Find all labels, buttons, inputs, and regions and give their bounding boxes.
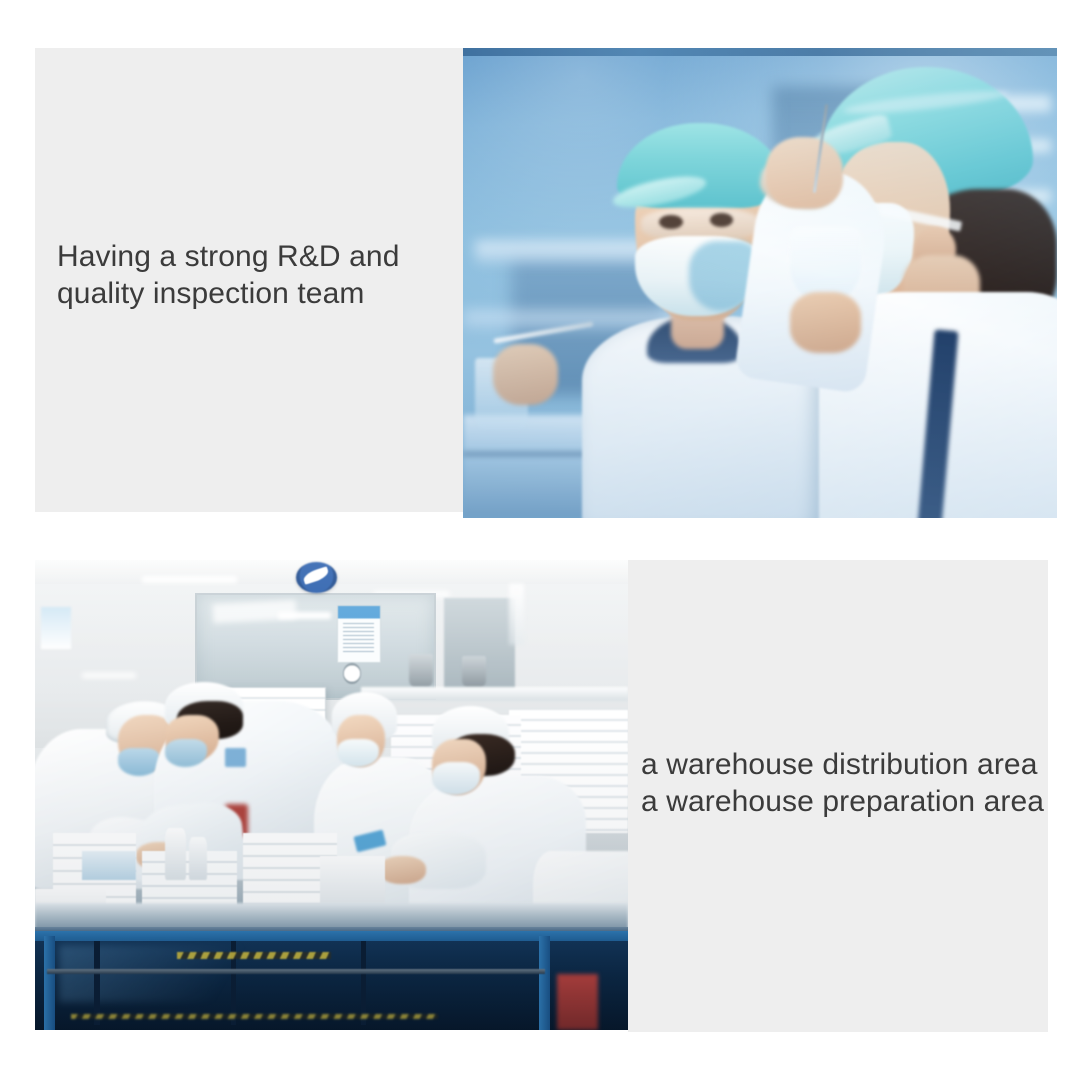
warehouse-color-haze <box>35 560 628 1030</box>
section-rnd-quality: Having a strong R&D and quality inspecti… <box>35 48 1057 518</box>
capability-showcase-page: Having a strong R&D and quality inspecti… <box>0 0 1080 1080</box>
caption-block-rnd: Having a strong R&D and quality inspecti… <box>57 238 457 312</box>
warehouse-packing-photo <box>35 560 628 1030</box>
caption-line-2: a warehouse preparation area <box>641 783 1051 820</box>
lab-color-haze <box>463 48 1057 518</box>
caption-line-2: quality inspection team <box>57 275 457 312</box>
caption-line-1: Having a strong R&D and <box>57 238 457 275</box>
caption-line-1: a warehouse distribution area <box>641 746 1051 783</box>
section-warehouse-areas: a warehouse distribution area a warehous… <box>35 560 1048 1032</box>
laboratory-inspection-photo <box>463 48 1057 518</box>
caption-block-warehouse: a warehouse distribution area a warehous… <box>641 746 1051 820</box>
